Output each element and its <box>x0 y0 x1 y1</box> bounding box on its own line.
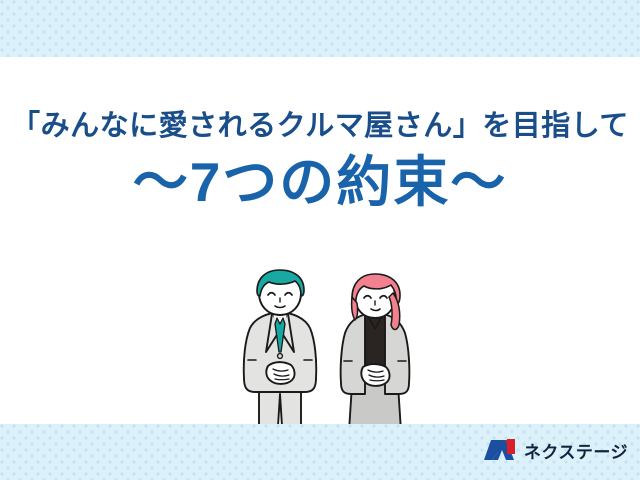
headline-primary-text: 「みんなに愛されるクルマ屋さん」を目指して <box>0 112 640 141</box>
headline-secondary-text: ～7つの約束～ <box>0 155 640 210</box>
female-staff-figure <box>341 274 410 426</box>
male-staff-figure <box>244 270 317 426</box>
headline-block: 「みんなに愛されるクルマ屋さん」を目指して ～7つの約束～ <box>0 112 640 210</box>
male-jacket-button <box>278 354 283 359</box>
staff-illustration <box>235 268 425 426</box>
nextage-n-mark-icon <box>484 438 518 467</box>
female-hands <box>361 364 389 386</box>
nextage-logo-text: ネクステージ <box>524 444 628 461</box>
nextage-logo: ネクステージ <box>484 438 628 467</box>
male-hands <box>266 362 294 384</box>
top-dotted-band <box>0 0 640 57</box>
slide-canvas: 「みんなに愛されるクルマ屋さん」を目指して ～7つの約束～ <box>0 0 640 480</box>
female-coat-left <box>341 314 367 394</box>
